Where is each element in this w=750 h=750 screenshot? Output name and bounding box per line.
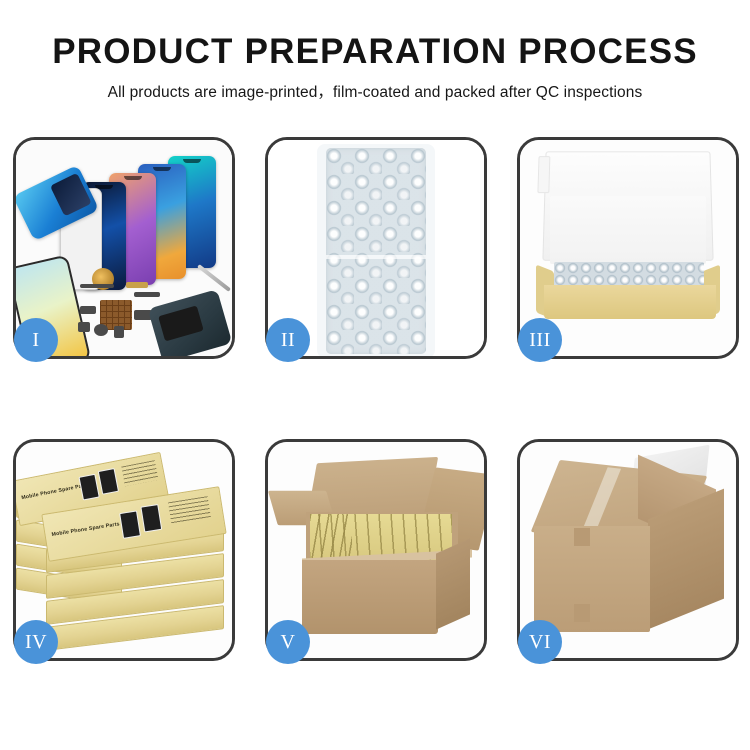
step-badge-1: I — [14, 318, 58, 362]
process-step-6: VI — [517, 439, 739, 661]
step-badge-4: IV — [14, 620, 58, 664]
small-module-part — [80, 306, 96, 314]
foam-sheet — [550, 196, 706, 264]
connector-part — [126, 282, 148, 288]
sealed-carton-front — [534, 526, 650, 632]
bubble-wrap-sheet — [326, 148, 426, 354]
tape-tab-upper — [574, 528, 590, 546]
repair-parts-group — [78, 270, 228, 356]
ribbon-cable-part — [134, 292, 160, 297]
sim-tray-part — [114, 326, 124, 338]
step-badge-5: V — [266, 620, 310, 664]
process-step-1: I — [13, 137, 235, 359]
phone-notch-icon — [183, 159, 201, 163]
process-step-grid: I II III — [13, 137, 739, 661]
step-badge-2: II — [266, 318, 310, 362]
page-subtitle: All products are image-printed，film-coat… — [0, 80, 750, 102]
step-badge-3: III — [518, 318, 562, 362]
process-step-4: Mobile Phone Spare Parts Mobile Phone Sp… — [13, 439, 235, 661]
tape-tab-lower — [574, 604, 590, 622]
flex-cable-part — [80, 284, 114, 288]
button-part — [94, 324, 108, 336]
process-step-5: V — [265, 439, 487, 661]
bubble-wrap-seam — [326, 255, 426, 259]
camera-part — [78, 322, 90, 332]
carton-side-panel — [436, 538, 470, 629]
inner-box-front-panel — [544, 285, 716, 319]
page-title: PRODUCT PREPARATION PROCESS — [0, 34, 750, 71]
step-badge-6: VI — [518, 620, 562, 664]
page-header: PRODUCT PREPARATION PROCESS All products… — [0, 0, 750, 102]
phone-chassis-part — [148, 289, 232, 356]
phone-notch-icon — [153, 167, 171, 171]
box-art-phone — [119, 510, 141, 538]
phone-notch-icon — [124, 176, 142, 180]
process-step-2: II — [265, 137, 487, 359]
carton-front-panel — [302, 560, 438, 634]
process-step-3: III — [517, 137, 739, 359]
box-art-phone — [140, 504, 162, 532]
